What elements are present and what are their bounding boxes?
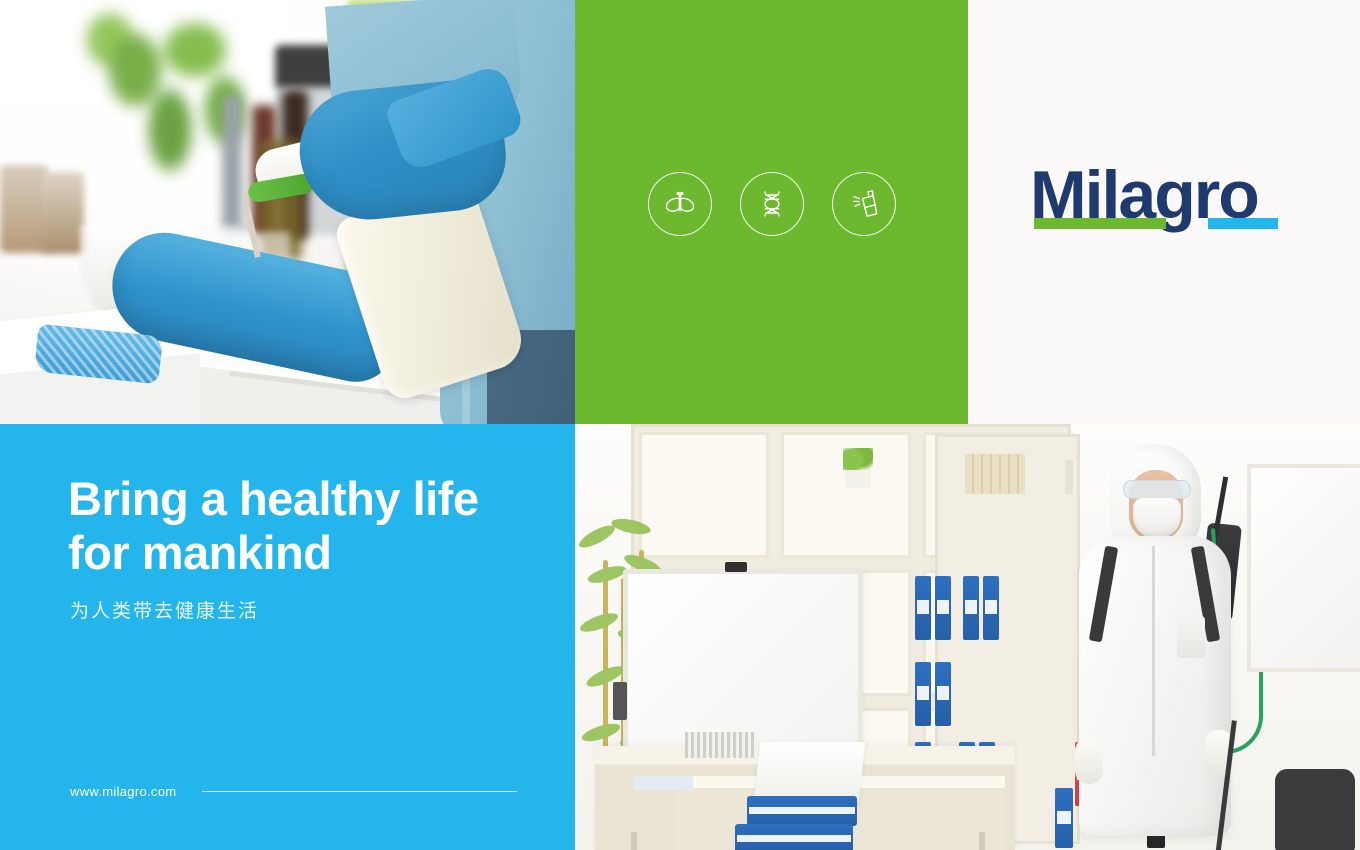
desk-leg xyxy=(631,832,637,850)
coverall-zipper xyxy=(1152,546,1155,756)
desk-binder xyxy=(735,824,853,850)
logo-panel: Milagro xyxy=(968,0,1360,424)
blue-binder xyxy=(935,576,951,640)
dna-helix-icon xyxy=(740,172,804,236)
shelf-books xyxy=(965,454,1025,494)
logo-green-bar xyxy=(1034,218,1166,229)
footer-divider-line xyxy=(202,791,517,793)
spray-disinfection-icon xyxy=(832,172,896,236)
whiteboard-clip xyxy=(725,562,747,572)
office-chair xyxy=(1275,769,1355,850)
kitchen-bottle xyxy=(222,95,242,235)
respirator-mask xyxy=(1133,498,1181,538)
desk-papers xyxy=(633,776,693,790)
green-icon-panel xyxy=(575,0,968,424)
desk-leg xyxy=(979,832,985,850)
desk-binder xyxy=(747,796,857,826)
disinfection-worker xyxy=(1053,440,1253,850)
kitchen-cleaning-photo xyxy=(0,0,575,424)
blue-binder xyxy=(915,662,931,726)
whiteboard-eraser xyxy=(613,682,627,720)
blue-binder xyxy=(935,662,951,726)
laptop xyxy=(754,742,865,802)
right-whiteboard xyxy=(1247,464,1360,672)
blue-binder xyxy=(963,576,979,640)
office-disinfection-photo xyxy=(575,424,1360,850)
milagro-logo: Milagro xyxy=(1030,160,1280,229)
protective-glove xyxy=(1075,738,1103,784)
coverall-pocket xyxy=(1177,616,1205,658)
footer: www.milagro.com xyxy=(70,784,517,799)
headline-line-2: for mankind xyxy=(68,526,331,579)
blue-binder xyxy=(983,576,999,640)
page-title: Bring a healthy life for mankind xyxy=(68,472,538,580)
blue-binder xyxy=(915,576,931,640)
subheadline-chinese: 为人类带去健康生活 xyxy=(70,596,259,623)
website-url[interactable]: www.milagro.com xyxy=(70,784,176,799)
safety-goggles xyxy=(1123,480,1191,499)
kitchen-storage-jar xyxy=(0,165,48,253)
logo-underline-bars xyxy=(1030,218,1280,229)
headline-panel: Bring a healthy life for mankind 为人类带去健康… xyxy=(0,424,575,850)
kitchen-storage-jar xyxy=(42,172,84,254)
marketing-slide: Milagro Bring a healthy life for mankind… xyxy=(0,0,1360,850)
moth-insect-icon xyxy=(648,172,712,236)
icon-row xyxy=(575,172,968,236)
desk-organizer xyxy=(685,732,757,758)
logo-blue-bar xyxy=(1208,218,1278,229)
headline-line-1: Bring a healthy life xyxy=(68,472,478,525)
shelf-plant xyxy=(843,448,873,470)
